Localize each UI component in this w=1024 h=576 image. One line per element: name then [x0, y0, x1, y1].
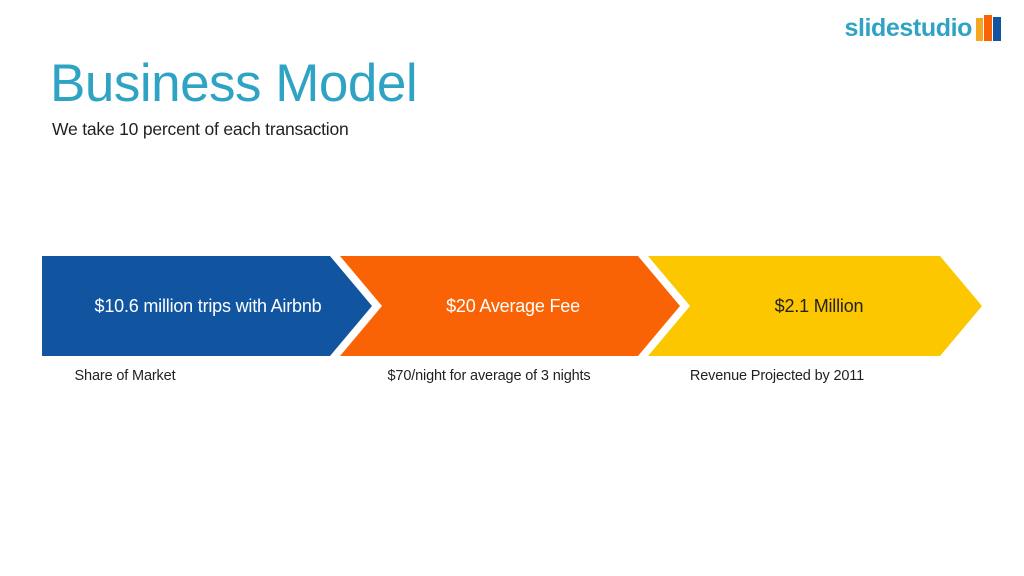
funnel-step-3-caption: Revenue Projected by 2011 — [690, 368, 864, 384]
funnel-step-3-label: $2.1 Million — [775, 296, 864, 316]
slidestudio-bars-icon — [976, 14, 1002, 42]
funnel-step-2-label: $20 Average Fee — [446, 296, 580, 316]
funnel-step-1-caption: Share of Market — [75, 368, 176, 384]
funnel-svg: $10.6 million trips with Airbnb $20 Aver… — [0, 252, 1024, 360]
brand-logo[interactable]: slidestudio — [844, 14, 1002, 42]
page-title: Business Model — [50, 56, 417, 112]
slide-canvas: slidestudio Business Model We take 10 pe… — [0, 0, 1024, 576]
funnel-step-2[interactable]: $20 Average Fee — [340, 256, 680, 356]
page-subtitle: We take 10 percent of each transaction — [52, 119, 349, 140]
funnel-step-1[interactable]: $10.6 million trips with Airbnb — [42, 256, 372, 356]
funnel-step-3[interactable]: $2.1 Million — [648, 256, 982, 356]
funnel-captions: Share of Market $70/night for average of… — [0, 368, 1024, 392]
funnel-chevron-band: $10.6 million trips with Airbnb $20 Aver… — [0, 252, 1024, 360]
funnel-step-1-label: $10.6 million trips with Airbnb — [95, 296, 322, 316]
funnel-step-2-caption: $70/night for average of 3 nights — [387, 368, 590, 384]
brand-wordmark: slidestudio — [844, 16, 972, 41]
